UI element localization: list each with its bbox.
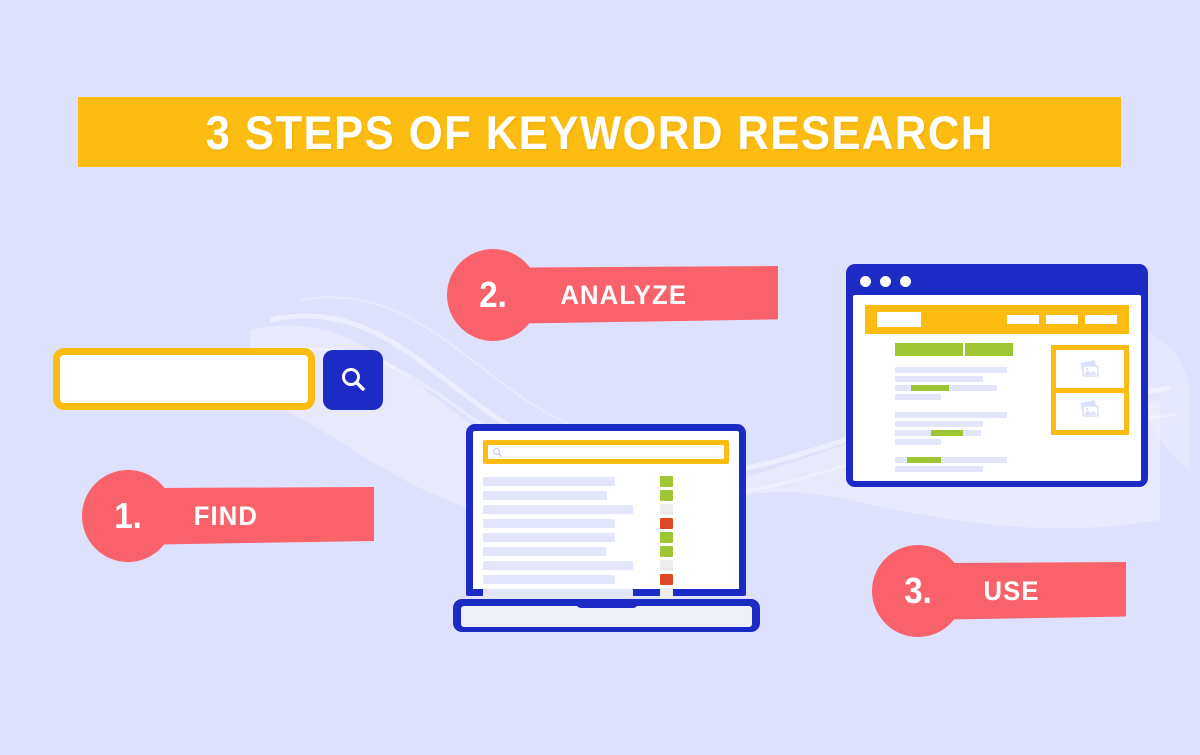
step-2-number: 2. — [479, 274, 507, 316]
result-status-chip — [660, 476, 673, 487]
browser-headline-row — [895, 343, 1013, 356]
nav-links — [1007, 315, 1117, 324]
search-icon — [492, 447, 503, 458]
browser-text-block — [895, 412, 1013, 445]
browser-text-line — [895, 394, 941, 400]
laptop-search-bar[interactable] — [483, 440, 729, 464]
result-status-chip — [660, 588, 673, 599]
image-placeholder-1 — [1056, 350, 1124, 390]
result-status-chip — [660, 490, 673, 501]
browser-text-line — [895, 466, 983, 472]
image-placeholder-icon — [1077, 400, 1103, 420]
image-placeholder-2 — [1056, 390, 1124, 430]
laptop-result-row — [483, 545, 729, 558]
result-text-bar — [483, 477, 615, 486]
browser-text-line — [895, 376, 983, 382]
result-status-chip — [660, 560, 673, 571]
laptop-result-row — [483, 573, 729, 586]
result-status-chip — [660, 546, 673, 557]
browser-nav-bar — [865, 305, 1129, 334]
window-dot-icon[interactable] — [880, 276, 891, 287]
result-status-chip — [660, 574, 673, 585]
infographic-canvas: 3 STEPS OF KEYWORD RESEARCH FIND 1. ANAL… — [0, 0, 1200, 755]
nav-item[interactable] — [1085, 315, 1117, 324]
search-input[interactable] — [53, 348, 315, 410]
step-3-label: USE — [983, 576, 1039, 607]
browser-window — [846, 264, 1148, 487]
nav-item[interactable] — [1007, 315, 1039, 324]
laptop-result-row — [483, 517, 729, 530]
laptop-notch — [576, 599, 638, 608]
laptop-result-row — [483, 475, 729, 488]
result-text-bar — [483, 533, 615, 542]
browser-article-column — [895, 343, 1013, 484]
result-status-chip — [660, 532, 673, 543]
step-1-label: FIND — [194, 501, 258, 532]
page-title-banner: 3 STEPS OF KEYWORD RESEARCH — [78, 97, 1121, 167]
laptop-result-row — [483, 531, 729, 544]
browser-text-block — [895, 367, 1013, 400]
window-dot-icon[interactable] — [900, 276, 911, 287]
browser-sidebar — [1051, 345, 1129, 435]
browser-text-line — [895, 412, 1007, 418]
laptop-screen — [466, 424, 746, 596]
laptop-illustration — [453, 424, 765, 640]
result-text-bar — [483, 575, 615, 584]
headline-bar — [965, 343, 1013, 356]
laptop-result-row — [483, 489, 729, 502]
result-text-bar — [483, 547, 606, 556]
result-text-bar — [483, 491, 607, 500]
browser-page — [853, 295, 1141, 481]
step-1-circle: 1. — [82, 470, 174, 562]
step-2-circle: 2. — [447, 249, 539, 341]
browser-content — [865, 343, 1129, 473]
laptop-keyboard-area — [461, 606, 752, 627]
browser-text-block — [895, 457, 1013, 472]
browser-window-controls — [860, 276, 911, 287]
result-text-bar — [483, 519, 615, 528]
result-text-bar — [483, 561, 633, 570]
search-button[interactable] — [323, 350, 383, 410]
result-text-bar — [483, 505, 633, 514]
step-3-number: 3. — [904, 570, 932, 612]
result-text-bar — [483, 589, 633, 598]
laptop-result-row — [483, 559, 729, 572]
laptop-search-input[interactable] — [488, 445, 724, 459]
browser-text-line — [895, 385, 997, 391]
search-icon — [338, 365, 368, 395]
browser-text-line — [895, 439, 941, 445]
nav-item[interactable] — [1046, 315, 1078, 324]
image-placeholder-icon — [1077, 360, 1103, 380]
keyword-highlight — [907, 457, 941, 463]
result-status-chip — [660, 504, 673, 515]
search-widget — [53, 348, 396, 410]
site-logo[interactable] — [877, 312, 921, 327]
window-dot-icon[interactable] — [860, 276, 871, 287]
browser-text-line — [895, 421, 983, 427]
step-2-label: ANALYZE — [560, 280, 687, 311]
laptop-base — [453, 599, 760, 632]
laptop-result-list — [483, 475, 729, 615]
keyword-highlight — [931, 430, 963, 436]
headline-bar — [895, 343, 963, 356]
step-3-circle: 3. — [872, 545, 964, 637]
page-title: 3 STEPS OF KEYWORD RESEARCH — [205, 105, 993, 160]
keyword-highlight — [911, 385, 949, 391]
browser-text-line — [895, 457, 1007, 463]
browser-text-line — [895, 430, 981, 436]
laptop-result-row — [483, 503, 729, 516]
result-status-chip — [660, 518, 673, 529]
step-1-number: 1. — [114, 495, 142, 537]
browser-text-line — [895, 367, 1007, 373]
